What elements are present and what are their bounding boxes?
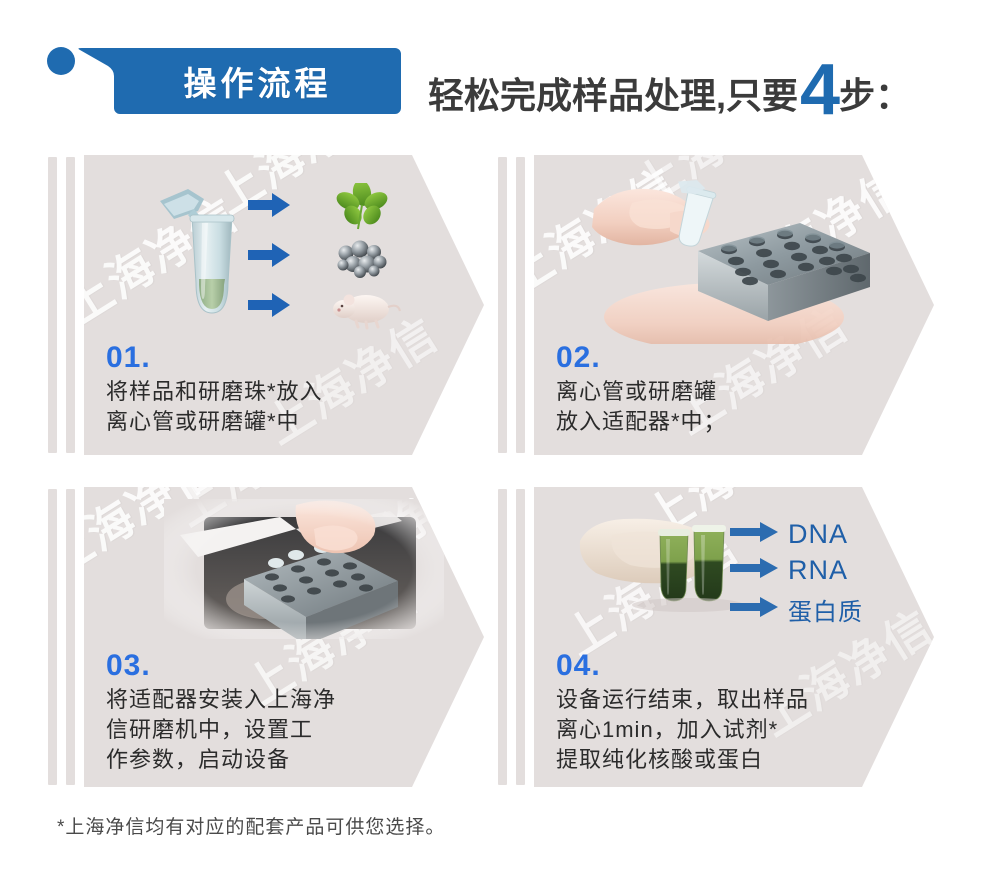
output-row-rna: RNA: [730, 555, 848, 586]
arrow-right-icon: [730, 522, 778, 547]
card-stripe-inner: [516, 489, 525, 785]
page-root: 操作流程 轻松完成样品处理,只要4步： 上海净信 上海净信 上海净信: [0, 0, 1000, 875]
steps-grid: 上海净信 上海净信 上海净信: [0, 155, 1000, 785]
output-row-protein: 蛋白质: [730, 592, 863, 627]
card-stripe-inner: [516, 157, 525, 453]
footer-note: *上海净信均有对应的配套产品可供您选择。: [57, 812, 445, 839]
arrow-right-icon: [730, 558, 778, 583]
output-label-protein: 蛋白质: [788, 592, 863, 627]
step-text-02: 离心管或研磨罐 放入适配器*中；: [556, 377, 727, 437]
step-text-04: 设备运行结束，取出样品 离心1min，加入试剂* 提取纯化核酸或蛋白: [556, 685, 809, 775]
step-02-illustration: [574, 169, 894, 344]
page-title: 轻松完成样品处理,只要4步：: [428, 46, 911, 118]
step-number-03: 03.: [106, 651, 151, 681]
step-number-04: 04.: [556, 651, 601, 681]
step-03-illustration: [164, 499, 444, 639]
card-stripe-outer: [48, 157, 57, 453]
card-stripe-inner: [66, 157, 75, 453]
step-text-01: 将样品和研磨珠*放入 离心管或研磨罐*中: [106, 377, 323, 437]
step-card-02[interactable]: 上海净信 上海净信 上海净信 上海净信: [498, 155, 950, 455]
step-text-03: 将适配器安装入上海净 信研磨机中，设置工 作参数，启动设备: [106, 685, 336, 775]
page-title-part1: 轻松完成样品处理,只要: [428, 78, 798, 118]
page-header: 操作流程 轻松完成样品处理,只要4步：: [0, 0, 1000, 140]
step-number-01: 01.: [106, 343, 151, 373]
page-title-colon: ：: [875, 78, 911, 118]
card-stripe-outer: [498, 489, 507, 785]
card-stripe-inner: [66, 489, 75, 785]
output-row-dna: DNA: [730, 519, 848, 550]
step-card-01[interactable]: 上海净信 上海净信 上海净信: [48, 155, 500, 455]
page-title-number: 4: [800, 62, 838, 118]
step-card-04[interactable]: 上海净信 上海净信 上海净信: [498, 487, 950, 787]
step-01-illustration: [140, 183, 440, 333]
card-stripe-outer: [498, 157, 507, 453]
header-banner-label: 操作流程: [78, 48, 401, 114]
arrow-right-icon: [730, 597, 778, 622]
output-label-rna: RNA: [788, 555, 848, 586]
page-title-part2: 步: [839, 78, 875, 118]
card-stripe-outer: [48, 489, 57, 785]
header-dot-icon: [47, 47, 75, 75]
step-card-03[interactable]: 上海净信 上海净信 上海净信 上海净信: [48, 487, 500, 787]
step-number-02: 02.: [556, 343, 601, 373]
output-label-dna: DNA: [788, 519, 848, 550]
